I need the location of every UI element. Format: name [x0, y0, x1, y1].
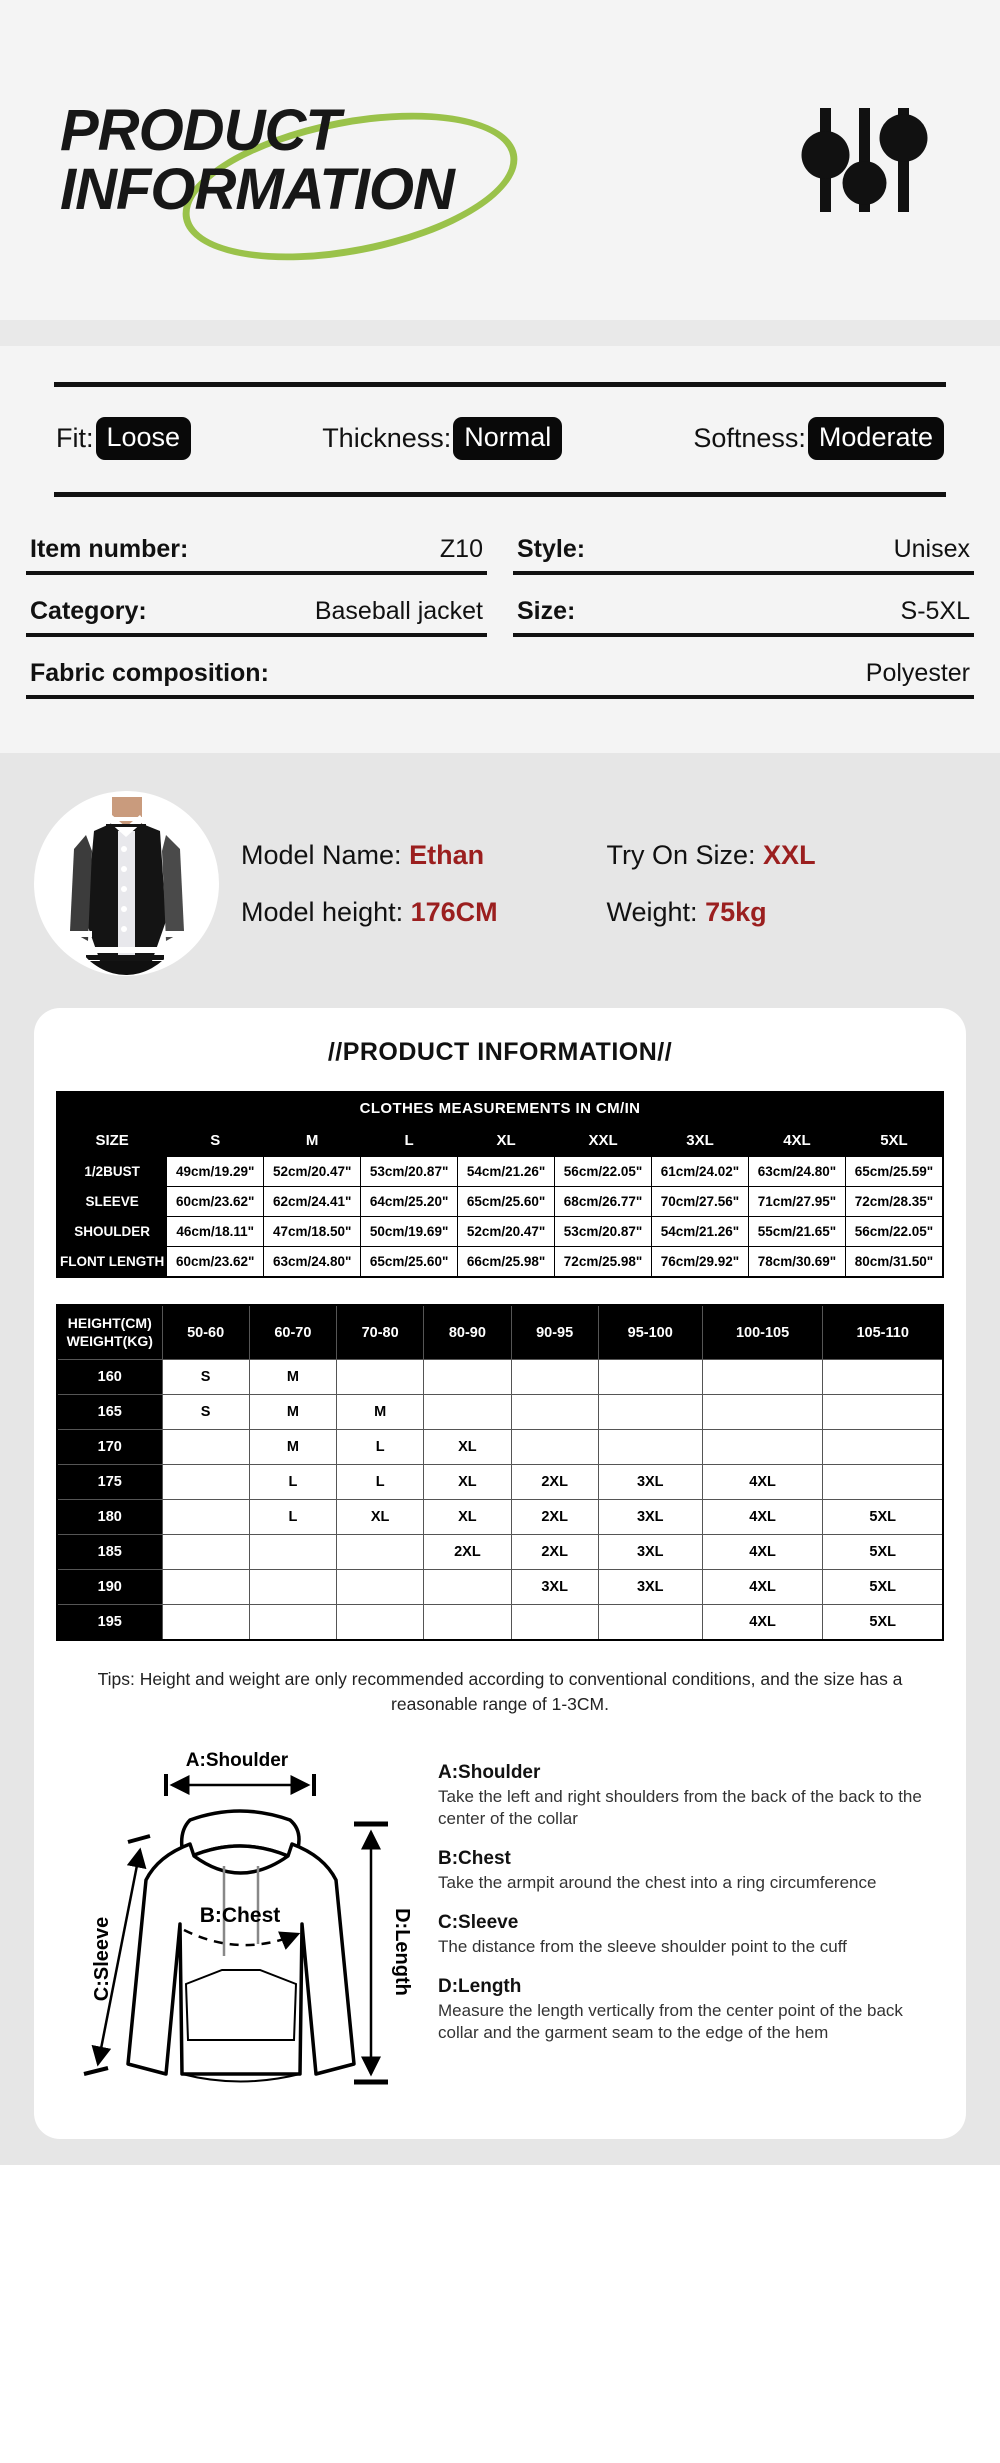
- size-cell: [823, 1465, 943, 1500]
- size-height-label: 170: [57, 1430, 162, 1465]
- size-cell: [337, 1570, 424, 1605]
- section-divider-band: [0, 320, 1000, 346]
- spec-line-2: Category: Baseball jacket Size: S-5XL: [26, 591, 974, 653]
- measurements-cell: 80cm/31.50": [845, 1247, 943, 1278]
- size-cell: [598, 1430, 702, 1465]
- size-cell: [823, 1395, 943, 1430]
- guide-item-heading: B:Chest: [438, 1848, 938, 1870]
- measurements-row-label: 1/2BUST: [57, 1157, 167, 1187]
- attribute-fit-label: Fit:: [56, 423, 94, 454]
- size-cell: 5XL: [823, 1535, 943, 1570]
- model-height-label: Model height:: [241, 897, 403, 927]
- model-photo: [34, 791, 219, 976]
- size-weight-header: 60-70: [249, 1305, 336, 1360]
- product-card-wrapper: //PRODUCT INFORMATION// CLOTHES MEASUREM…: [0, 1000, 1000, 2165]
- attribute-fit: Fit: Loose: [56, 417, 191, 460]
- size-weight-header: 95-100: [598, 1305, 702, 1360]
- model-jacket-illustration: [34, 791, 219, 976]
- size-cell: [162, 1570, 249, 1605]
- table-row: 1954XL5XL: [57, 1605, 943, 1641]
- measurements-cell: 54cm/21.26": [652, 1217, 749, 1247]
- model-height: Model height: 176CM: [241, 897, 607, 928]
- size-cell: [249, 1535, 336, 1570]
- measurements-cell: 56cm/22.05": [845, 1217, 943, 1247]
- guide-item-description: Measure the length vertically from the c…: [438, 2000, 938, 2044]
- measurements-cell: 63cm/24.80": [748, 1157, 845, 1187]
- size-cell: 2XL: [511, 1465, 598, 1500]
- measurements-cell: 76cm/29.92": [652, 1247, 749, 1278]
- model-name: Model Name: Ethan: [241, 840, 607, 871]
- size-cell: [823, 1430, 943, 1465]
- measurements-cell: 54cm/21.26": [458, 1157, 555, 1187]
- measurements-header-row: SIZESMLXLXXL3XL4XL5XL: [57, 1125, 943, 1157]
- attributes-bottom-rule: [54, 492, 946, 497]
- size-cell: XL: [424, 1465, 511, 1500]
- measurements-table-body: 1/2BUST49cm/19.29"52cm/20.47"53cm/20.87"…: [57, 1157, 943, 1278]
- size-cell: [424, 1570, 511, 1605]
- size-cell: [823, 1360, 943, 1395]
- measurements-cell: 53cm/20.87": [555, 1217, 652, 1247]
- measurements-cell: 78cm/30.69": [748, 1247, 845, 1278]
- header-title-wrap: PRODUCT INFORMATION: [60, 101, 790, 219]
- size-cell: [162, 1605, 249, 1641]
- table-row: SHOULDER46cm/18.11"47cm/18.50"50cm/19.69…: [57, 1217, 943, 1247]
- size-cell: 3XL: [598, 1535, 702, 1570]
- attribute-softness: Softness: Moderate: [693, 417, 944, 460]
- measurements-cell: 62cm/24.41": [264, 1187, 361, 1217]
- measurements-cell: 47cm/18.50": [264, 1217, 361, 1247]
- spec-style: Style: Unisex: [513, 529, 974, 575]
- size-tips-text: Tips: Height and weight are only recomme…: [86, 1667, 914, 1718]
- size-cell: XL: [424, 1430, 511, 1465]
- spec-fabric: Fabric composition: Polyester: [26, 653, 974, 699]
- size-cell: 3XL: [598, 1570, 702, 1605]
- size-cell: [424, 1395, 511, 1430]
- size-cell: XL: [337, 1500, 424, 1535]
- attribute-fit-value: Loose: [96, 417, 192, 460]
- size-cell: M: [249, 1430, 336, 1465]
- size-weight-header: 100-105: [702, 1305, 823, 1360]
- size-cell: [249, 1570, 336, 1605]
- spec-category-value: Baseball jacket: [315, 597, 483, 626]
- size-header-row: HEIGHT(CM) WEIGHT(KG) 50-6060-7070-8080-…: [57, 1305, 943, 1360]
- size-cell: [249, 1605, 336, 1641]
- measurements-size-header: 3XL: [652, 1125, 749, 1157]
- measurements-cell: 46cm/18.11": [167, 1217, 264, 1247]
- measurements-cell: 53cm/20.87": [361, 1157, 458, 1187]
- attributes-section: Fit: Loose Thickness: Normal Softness: M…: [0, 346, 1000, 507]
- spec-fabric-value: Polyester: [866, 659, 970, 688]
- measurements-cell: 52cm/20.47": [264, 1157, 361, 1187]
- measurements-cell: 65cm/25.60": [458, 1187, 555, 1217]
- size-height-label: 160: [57, 1360, 162, 1395]
- measurements-cell: 49cm/19.29": [167, 1157, 264, 1187]
- size-height-label: 175: [57, 1465, 162, 1500]
- measurement-guide-text: A:ShoulderTake the left and right should…: [438, 1744, 938, 2063]
- size-cell: [162, 1535, 249, 1570]
- size-cell: [337, 1605, 424, 1641]
- model-info: Model Name: Ethan Try On Size: XXL Model…: [241, 840, 972, 928]
- size-cell: [598, 1395, 702, 1430]
- measurements-size-header: XXL: [555, 1125, 652, 1157]
- corner-weight-label: WEIGHT(KG): [67, 1333, 153, 1349]
- attributes-row: Fit: Loose Thickness: Normal Softness: M…: [30, 387, 970, 492]
- guide-item-heading: A:Shoulder: [438, 1762, 938, 1784]
- size-cell: L: [337, 1430, 424, 1465]
- measurements-caption-row: CLOTHES MEASUREMENTS IN CM/IN: [57, 1092, 943, 1125]
- hoodie-diagram: A:Shoulder: [62, 1744, 422, 2099]
- size-table-corner: HEIGHT(CM) WEIGHT(KG): [57, 1305, 162, 1360]
- measurements-corner-header: SIZE: [57, 1125, 167, 1157]
- measurements-cell: 72cm/25.98": [555, 1247, 652, 1278]
- size-cell: 4XL: [702, 1465, 823, 1500]
- guide-item: A:ShoulderTake the left and right should…: [438, 1762, 938, 1830]
- measurements-size-header: M: [264, 1125, 361, 1157]
- size-cell: [598, 1605, 702, 1641]
- size-cell: S: [162, 1395, 249, 1430]
- measurements-cell: 55cm/21.65": [748, 1217, 845, 1247]
- size-cell: 3XL: [598, 1465, 702, 1500]
- measurements-cell: 64cm/25.20": [361, 1187, 458, 1217]
- spec-size-key: Size:: [517, 597, 575, 626]
- measurements-row-label: FLONT LENGTH: [57, 1247, 167, 1278]
- model-try-on-size: Try On Size: XXL: [607, 840, 973, 871]
- measurements-cell: 63cm/24.80": [264, 1247, 361, 1278]
- measurements-size-header: L: [361, 1125, 458, 1157]
- table-row: 165SMM: [57, 1395, 943, 1430]
- measurements-size-header: 4XL: [748, 1125, 845, 1157]
- guide-item-heading: C:Sleeve: [438, 1912, 938, 1934]
- spec-line-1: Item number: Z10 Style: Unisex: [26, 529, 974, 591]
- model-try-on-value: XXL: [763, 840, 816, 870]
- size-cell: [702, 1395, 823, 1430]
- measurements-cell: 60cm/23.62": [167, 1247, 264, 1278]
- size-cell: [162, 1465, 249, 1500]
- size-cell: [598, 1360, 702, 1395]
- size-cell: [511, 1605, 598, 1641]
- corner-height-label: HEIGHT(CM): [68, 1315, 152, 1331]
- attribute-thickness-value: Normal: [453, 417, 562, 460]
- sliders-icon: [790, 100, 940, 220]
- size-cell: [511, 1360, 598, 1395]
- size-height-label: 185: [57, 1535, 162, 1570]
- size-cell: [702, 1360, 823, 1395]
- table-row: 175LLXL2XL3XL4XL: [57, 1465, 943, 1500]
- guide-item-description: The distance from the sleeve shoulder po…: [438, 1936, 938, 1958]
- size-weight-header: 90-95: [511, 1305, 598, 1360]
- spec-item-number-value: Z10: [440, 535, 483, 564]
- measurements-cell: 65cm/25.60": [361, 1247, 458, 1278]
- guide-item-heading: D:Length: [438, 1976, 938, 1998]
- size-cell: [511, 1430, 598, 1465]
- size-cell: 5XL: [823, 1570, 943, 1605]
- size-table-body: 160SM165SMM170MLXL175LLXL2XL3XL4XL180LXL…: [57, 1360, 943, 1641]
- attribute-softness-value: Moderate: [808, 417, 944, 460]
- measurements-caption: CLOTHES MEASUREMENTS IN CM/IN: [57, 1092, 943, 1125]
- spec-category: Category: Baseball jacket: [26, 591, 487, 637]
- measurements-size-header: S: [167, 1125, 264, 1157]
- product-information-page: PRODUCT INFORMATION Fit: Loose Thickness…: [0, 0, 1000, 2165]
- card-title: //PRODUCT INFORMATION//: [56, 1038, 944, 1067]
- size-cell: [337, 1535, 424, 1570]
- size-cell: M: [337, 1395, 424, 1430]
- size-cell: M: [249, 1395, 336, 1430]
- model-name-label: Model Name:: [241, 840, 402, 870]
- size-cell: 2XL: [511, 1500, 598, 1535]
- size-cell: [702, 1430, 823, 1465]
- measurements-cell: 70cm/27.56": [652, 1187, 749, 1217]
- table-row: 1/2BUST49cm/19.29"52cm/20.47"53cm/20.87"…: [57, 1157, 943, 1187]
- measurements-cell: 68cm/26.77": [555, 1187, 652, 1217]
- hoodie-measurement-illustration: A:Shoulder: [62, 1744, 422, 2094]
- size-cell: 4XL: [702, 1500, 823, 1535]
- measurements-cell: 65cm/25.59": [845, 1157, 943, 1187]
- measurements-cell: 61cm/24.02": [652, 1157, 749, 1187]
- model-height-value: 176CM: [411, 897, 498, 927]
- measurements-cell: 56cm/22.05": [555, 1157, 652, 1187]
- size-cell: [162, 1500, 249, 1535]
- table-row: FLONT LENGTH60cm/23.62"63cm/24.80"65cm/2…: [57, 1247, 943, 1278]
- table-row: 1852XL2XL3XL4XL5XL: [57, 1535, 943, 1570]
- measurements-size-header: XL: [458, 1125, 555, 1157]
- spec-category-key: Category:: [30, 597, 147, 626]
- size-cell: L: [249, 1500, 336, 1535]
- size-height-label: 195: [57, 1605, 162, 1641]
- size-recommendation-table: HEIGHT(CM) WEIGHT(KG) 50-6060-7070-8080-…: [56, 1304, 944, 1641]
- table-row: SLEEVE60cm/23.62"62cm/24.41"64cm/25.20"6…: [57, 1187, 943, 1217]
- page-header: PRODUCT INFORMATION: [0, 0, 1000, 320]
- size-cell: 4XL: [702, 1605, 823, 1641]
- guide-item: C:SleeveThe distance from the sleeve sho…: [438, 1912, 938, 1958]
- measurements-cell: 72cm/28.35": [845, 1187, 943, 1217]
- size-cell: 4XL: [702, 1570, 823, 1605]
- product-card: //PRODUCT INFORMATION// CLOTHES MEASUREM…: [34, 1008, 966, 2139]
- table-row: 1903XL3XL4XL5XL: [57, 1570, 943, 1605]
- spec-item-number-key: Item number:: [30, 535, 188, 564]
- measurements-cell: 52cm/20.47": [458, 1217, 555, 1247]
- page-title: PRODUCT INFORMATION: [60, 101, 790, 219]
- size-weight-header: 50-60: [162, 1305, 249, 1360]
- size-cell: [511, 1395, 598, 1430]
- measurements-size-header: 5XL: [845, 1125, 943, 1157]
- model-section-top-band: [0, 753, 1000, 775]
- size-table-head: HEIGHT(CM) WEIGHT(KG) 50-6060-7070-8080-…: [57, 1305, 943, 1360]
- figure-label-shoulder: A:Shoulder: [186, 1750, 289, 1771]
- size-cell: S: [162, 1360, 249, 1395]
- table-row: 170MLXL: [57, 1430, 943, 1465]
- size-cell: L: [249, 1465, 336, 1500]
- spec-line-3: Fabric composition: Polyester: [26, 653, 974, 715]
- size-cell: 3XL: [598, 1500, 702, 1535]
- size-cell: XL: [424, 1500, 511, 1535]
- model-try-on-label: Try On Size:: [607, 840, 756, 870]
- figure-label-sleeve: C:Sleeve: [91, 1917, 113, 2002]
- size-cell: [424, 1605, 511, 1641]
- spec-style-value: Unisex: [894, 535, 970, 564]
- size-cell: 3XL: [511, 1570, 598, 1605]
- spec-item-number: Item number: Z10: [26, 529, 487, 575]
- spec-size: Size: S-5XL: [513, 591, 974, 637]
- size-cell: [424, 1360, 511, 1395]
- table-row: 160SM: [57, 1360, 943, 1395]
- model-info-grid: Model Name: Ethan Try On Size: XXL Model…: [241, 840, 972, 928]
- measurements-cell: 66cm/25.98": [458, 1247, 555, 1278]
- size-cell: 5XL: [823, 1605, 943, 1641]
- size-cell: [162, 1430, 249, 1465]
- size-cell: 2XL: [511, 1535, 598, 1570]
- spec-size-value: S-5XL: [901, 597, 970, 626]
- attribute-softness-label: Softness:: [693, 423, 806, 454]
- attribute-thickness: Thickness: Normal: [322, 417, 562, 460]
- model-weight-label: Weight:: [607, 897, 698, 927]
- measurements-table-head: CLOTHES MEASUREMENTS IN CM/IN SIZESMLXLX…: [57, 1092, 943, 1157]
- clothes-measurements-table: CLOTHES MEASUREMENTS IN CM/IN SIZESMLXLX…: [56, 1091, 944, 1278]
- size-cell: [337, 1360, 424, 1395]
- figure-label-chest: B:Chest: [200, 1904, 281, 1927]
- spec-fabric-key: Fabric composition:: [30, 659, 269, 688]
- figure-label-length: D:Length: [391, 1908, 413, 1996]
- size-weight-header: 80-90: [424, 1305, 511, 1360]
- size-weight-header: 70-80: [337, 1305, 424, 1360]
- measurements-cell: 50cm/19.69": [361, 1217, 458, 1247]
- size-cell: 2XL: [424, 1535, 511, 1570]
- size-height-label: 190: [57, 1570, 162, 1605]
- size-cell: L: [337, 1465, 424, 1500]
- size-weight-header: 105-110: [823, 1305, 943, 1360]
- size-cell: 5XL: [823, 1500, 943, 1535]
- model-name-value: Ethan: [409, 840, 484, 870]
- guide-item: B:ChestTake the armpit around the chest …: [438, 1848, 938, 1894]
- size-cell: M: [249, 1360, 336, 1395]
- spec-style-key: Style:: [517, 535, 585, 564]
- model-weight-value: 75kg: [705, 897, 767, 927]
- guide-item-description: Take the armpit around the chest into a …: [438, 1872, 938, 1894]
- guide-item-description: Take the left and right shoulders from t…: [438, 1786, 938, 1830]
- model-section: Model Name: Ethan Try On Size: XXL Model…: [0, 775, 1000, 1000]
- specifications-section: Item number: Z10 Style: Unisex Category:…: [0, 507, 1000, 753]
- size-height-label: 180: [57, 1500, 162, 1535]
- attribute-thickness-label: Thickness:: [322, 423, 451, 454]
- table-row: 180LXLXL2XL3XL4XL5XL: [57, 1500, 943, 1535]
- size-height-label: 165: [57, 1395, 162, 1430]
- size-cell: 4XL: [702, 1535, 823, 1570]
- guide-item: D:LengthMeasure the length vertically fr…: [438, 1976, 938, 2044]
- measurements-cell: 71cm/27.95": [748, 1187, 845, 1217]
- measurements-row-label: SLEEVE: [57, 1187, 167, 1217]
- measurements-cell: 60cm/23.62": [167, 1187, 264, 1217]
- model-weight: Weight: 75kg: [607, 897, 973, 928]
- measurements-row-label: SHOULDER: [57, 1217, 167, 1247]
- measurement-guide: A:Shoulder: [56, 1726, 944, 2105]
